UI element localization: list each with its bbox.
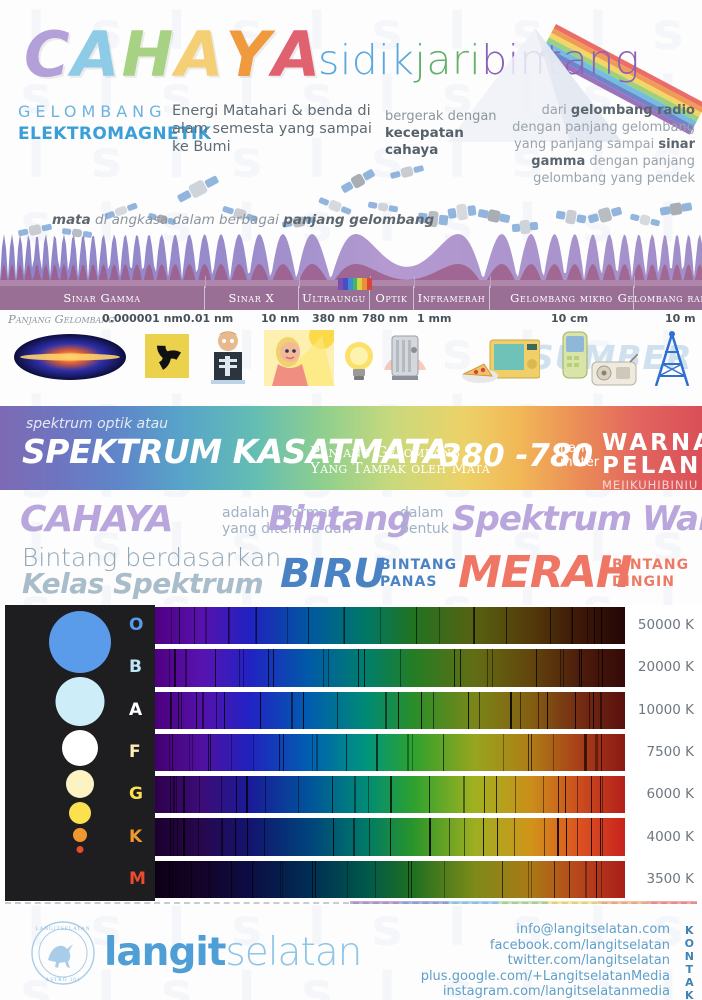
- wavelength-scale-row: Panjang Gelombang0.000001 nm0.01 nm10 nm…: [0, 312, 702, 328]
- page-title: CAHAYA: [24, 24, 322, 86]
- space-telescope-icon: [659, 197, 694, 220]
- spectrum-source-icons: [0, 328, 702, 404]
- kasat-mnemonic: MEJIKUHIBINIU: [602, 478, 698, 490]
- brand-langit: langit: [104, 930, 225, 975]
- star-size-panel: OBAFGKM: [5, 605, 155, 901]
- star-size-O: [49, 611, 111, 673]
- title-letter: A: [72, 24, 122, 86]
- spectrum-band-gelombang-radio[interactable]: Gelombang radio: [634, 286, 702, 310]
- spectral-class-letter-O: O: [129, 615, 143, 635]
- panjang-gelombang-label: Panjang Gelombang: [8, 312, 115, 326]
- dalam-l2: bentuk: [400, 521, 449, 537]
- star-size-F: [66, 770, 94, 798]
- kasat-eyebrow: spektrum optik atau: [26, 416, 168, 432]
- subtitle-word: sidik: [318, 36, 414, 84]
- svg-text:ASTRO 101: ASTRO 101: [45, 977, 80, 983]
- poster-footer: LANGITSELATAN ASTRO 101 langitselatan in…: [0, 906, 702, 1000]
- spectral-class-letter-K: K: [129, 827, 142, 847]
- space-telescope-icon: [17, 219, 54, 242]
- wavelength-value: 0.01 nm: [183, 312, 233, 325]
- spectrum-band-optik[interactable]: Optik: [370, 286, 414, 310]
- spectrum-tick: [634, 276, 635, 288]
- caption-rest: di angkasa dalam berbagai: [91, 212, 283, 228]
- spectral-class-letter-F: F: [129, 742, 141, 762]
- tagline-dalam-bentuk: dalam bentuk: [400, 505, 449, 537]
- brand-wordmark: langitselatan: [104, 930, 361, 975]
- galaxy-allsky-icon: [14, 334, 126, 380]
- kecepatan-cahaya-label: kecepatan cahaya: [385, 125, 464, 158]
- spectrum-strip-K: [155, 818, 625, 855]
- spectral-class-letter-G: G: [129, 784, 143, 804]
- spectrum-band-label: Inframerah: [418, 291, 486, 305]
- divider-rainbow-stripe: [647, 901, 697, 904]
- wavelength-value: 10 nm: [261, 312, 299, 325]
- optical-rainbow-icon: [338, 278, 372, 290]
- temperature-label-K: 4000 K: [646, 829, 694, 845]
- dalam-l1: dalam: [400, 505, 449, 521]
- kontak-vertical-label: KONTAK: [685, 924, 694, 1000]
- divider-rainbow-stripe: [499, 901, 549, 904]
- kasat-unit2: meter: [560, 456, 599, 470]
- spectrum-strip-A: [155, 692, 625, 729]
- tagline-bintang-dingin: BINTANG DINGIN: [612, 557, 689, 591]
- wavelength-value: 10 m: [665, 312, 696, 325]
- spectrum-strip-O: [155, 607, 625, 644]
- spectrum-tick: [414, 276, 415, 288]
- visible-spectrum-banner: spektrum optik atau SPEKTRUM KASATMATA P…: [0, 406, 702, 490]
- kontak-letter: O: [685, 937, 694, 950]
- rainbow-stripe: [367, 278, 372, 290]
- divider-rainbow-stripe: [449, 901, 499, 904]
- spectrum-band-label: Sinar Gamma: [63, 291, 140, 305]
- langitselatan-seal-logo: LANGITSELATAN ASTRO 101: [30, 920, 96, 986]
- radio-tower-icon: [648, 330, 696, 386]
- temperature-label-A: 10000 K: [638, 702, 694, 718]
- divider-rainbow-stripe: [400, 901, 450, 904]
- contact-link[interactable]: instagram.com/langitselatanmedia: [421, 984, 670, 1000]
- kontak-letter: K: [685, 924, 694, 937]
- warna-label: WARNA: [602, 432, 702, 455]
- wavelength-value: 1 mm: [417, 312, 451, 325]
- kasat-warna-pelangi: WARNA PELANGI: [602, 432, 702, 478]
- tagline-biru: BIRU: [280, 551, 385, 597]
- temperature-label-G: 6000 K: [646, 786, 694, 802]
- spectrum-strip-G: [155, 776, 625, 813]
- bergerak-label: bergerak dengan: [385, 108, 510, 125]
- kontak-letter: N: [685, 950, 694, 963]
- star-size-B: [56, 677, 105, 726]
- spectrum-band-sinar-x[interactable]: Sinar X: [205, 286, 299, 310]
- contact-link[interactable]: twitter.com/langitselatan: [421, 953, 670, 969]
- tagline-block: CAHAYA adalah informasi yang diterima da…: [0, 495, 702, 595]
- spectrum-band-sinar-gamma[interactable]: Sinar Gamma: [0, 286, 205, 310]
- intro-text-row: GELOMBANG ELEKTROMAGNETIK Energi Matahar…: [0, 102, 702, 162]
- uv-sunbathing-icon: [264, 330, 334, 386]
- satellite-caption: mata di angkasa dalam berbagai panjang g…: [52, 212, 434, 228]
- spectra-rows: [155, 605, 625, 901]
- contact-link[interactable]: info@langitselatan.com: [421, 922, 670, 938]
- temperature-label-O: 50000 K: [638, 617, 694, 633]
- space-telescope-icon: [338, 164, 378, 198]
- divider-rainbow-stripe: [548, 901, 598, 904]
- star-size-A: [62, 730, 98, 766]
- intro-col-range: dari gelombang radio dengan panjang gelo…: [510, 102, 695, 187]
- title-letter: A: [272, 24, 322, 86]
- spectrum-band-label: Sinar X: [229, 291, 275, 305]
- svg-text:LANGITSELATAN: LANGITSELATAN: [36, 926, 91, 932]
- kasat-unit1: nano: [560, 442, 599, 456]
- tagline-kelas-spektrum: Kelas Spektrum: [22, 567, 263, 600]
- spectrum-band-gelombang-mikro[interactable]: Gelombang mikro: [490, 286, 634, 310]
- spectrum-band-label: Ultraungu: [302, 291, 366, 305]
- panas-l2: PANAS: [380, 574, 457, 591]
- tagline-cahaya: CAHAYA: [20, 499, 173, 540]
- panas-l1: BINTANG: [380, 557, 457, 574]
- spectral-class-letter-B: B: [129, 657, 142, 677]
- space-telescope-icon: [446, 198, 477, 226]
- kontak-letter: T: [685, 963, 694, 976]
- star-size-K: [73, 828, 87, 842]
- contact-link[interactable]: facebook.com/langitselatan: [421, 938, 670, 954]
- caption-bold: mata: [52, 212, 91, 228]
- intro-col-speed: bergerak dengan kecepatan cahaya: [385, 108, 510, 159]
- space-telescope-icon: [173, 169, 222, 209]
- spectrum-tick: [205, 276, 206, 288]
- caption-bold2: panjang gelombang: [283, 212, 434, 228]
- title-letter: A: [175, 24, 225, 86]
- wavelength-value: 0.000001 nm: [102, 312, 183, 325]
- tagline-merah: MERAH: [458, 547, 632, 598]
- kasat-unit: nano meter: [560, 442, 599, 470]
- space-telescope-icon: [476, 203, 511, 229]
- space-telescope-icon: [389, 160, 426, 184]
- spectrum-band-label: Optik: [375, 291, 407, 305]
- spectrum-band-label: Gelombang mikro: [510, 291, 613, 305]
- divider-rainbow-stripe: [598, 901, 648, 904]
- spectrum-tick: [490, 276, 491, 288]
- intro-col-energy: Energi Matahari & benda di alam semesta …: [172, 102, 377, 156]
- spectrum-strip-B: [155, 649, 625, 686]
- brand-selatan: selatan: [225, 930, 361, 975]
- spectrum-tick: [299, 276, 300, 288]
- dingin-l2: DINGIN: [612, 574, 689, 591]
- kontak-letter: A: [685, 976, 694, 989]
- contact-link[interactable]: plus.google.com/+LangitselatanMedia: [421, 969, 670, 985]
- spectrum-band-inframerah[interactable]: Inframerah: [414, 286, 490, 310]
- wavelength-value: 380 nm: [312, 312, 358, 325]
- star-size-G: [69, 802, 91, 824]
- tagline-spektrum-warna: Spektrum Warna: [452, 499, 702, 539]
- title-letter: H: [122, 24, 176, 86]
- space-telescope-icon: [629, 209, 662, 232]
- spectral-class-letter-M: M: [129, 869, 146, 889]
- spectrum-strip-M: [155, 861, 625, 898]
- space-telescope-icon: [511, 215, 539, 240]
- title-letter: C: [24, 24, 72, 86]
- spectrum-band-label: Gelombang radio: [618, 291, 702, 305]
- title-letter: Y: [225, 24, 272, 86]
- pelangi-label: PELANGI: [602, 455, 702, 478]
- space-telescope-icon: [586, 200, 625, 231]
- wavelength-value: 10 cm: [551, 312, 588, 325]
- tagline-bintang: Bintang: [268, 499, 411, 539]
- infographic-poster: lslslslslsslslslslsllslslslslsslslslslsl…: [0, 0, 702, 1000]
- kontak-letter: K: [685, 989, 694, 1000]
- col4-radio: gelombang radio: [571, 103, 695, 118]
- divider-rainbow: [350, 901, 697, 904]
- xray-child-icon: [207, 330, 249, 384]
- spectrum-strip-F: [155, 734, 625, 771]
- tagline-bintang-panas: BINTANG PANAS: [380, 557, 457, 591]
- mobile-phone-icon: [560, 330, 590, 380]
- temperature-label-M: 3500 K: [646, 871, 694, 887]
- contact-list: info@langitselatan.comfacebook.com/langi…: [421, 922, 670, 1000]
- radio-receiver-icon: [590, 354, 638, 386]
- col4-a: dari: [542, 103, 571, 118]
- temperature-label-F: 7500 K: [646, 744, 694, 760]
- wavelength-value: 780 nm: [362, 312, 408, 325]
- microwave-pizza-icon: [462, 336, 540, 384]
- heater-radiator-icon: [378, 328, 432, 384]
- divider-rainbow-stripe: [350, 901, 400, 904]
- lightbulb-icon: [342, 340, 376, 380]
- star-size-M: [77, 846, 84, 853]
- spectral-class-letter-A: A: [129, 700, 142, 720]
- temperature-label-B: 20000 K: [638, 659, 694, 675]
- dingin-l1: BINTANG: [612, 557, 689, 574]
- radiation-hazard-icon: [145, 334, 189, 378]
- spectral-class-chart: OBAFGKM 50000 K20000 K10000 K7500 K6000 …: [0, 605, 702, 905]
- space-telescope-icon: [554, 204, 587, 231]
- temperature-axis: 50000 K20000 K10000 K7500 K6000 K4000 K3…: [632, 605, 702, 901]
